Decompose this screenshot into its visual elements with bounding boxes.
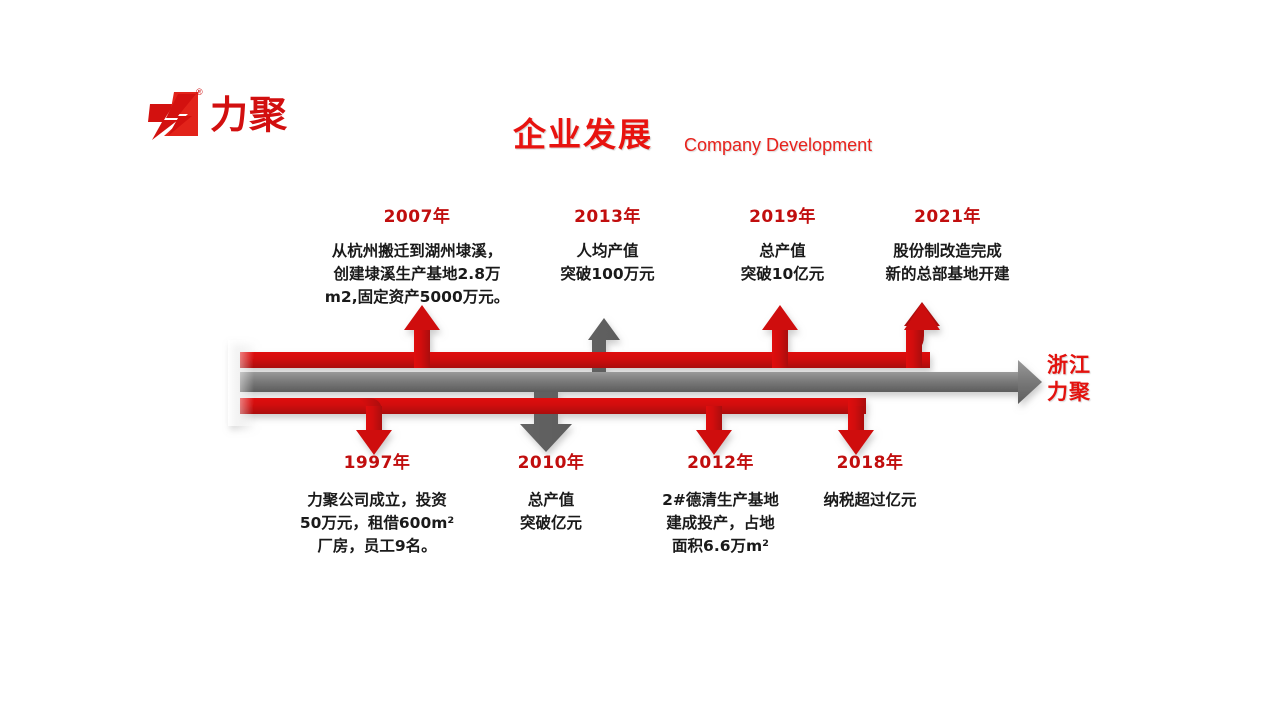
timeline-event-2021: 2021年 股份制改造完成 新的总部基地开建 <box>855 206 1040 286</box>
page-title-en: Company Development <box>684 133 872 157</box>
connector-down-2012 <box>696 406 732 455</box>
event-year: 2010年 <box>470 452 632 474</box>
event-description: 总产值 突破亿元 <box>470 489 632 535</box>
event-description: 人均产值 突破100万元 <box>525 240 690 286</box>
event-description: 从杭州搬迁到湖州埭溪， 创建埭溪生产基地2.8万 m2,固定资产5000万元。 <box>292 240 542 309</box>
event-year: 2018年 <box>780 452 960 474</box>
event-description: 总产值 突破10亿元 <box>700 240 865 286</box>
connector-up-2019 <box>762 305 798 368</box>
timeline-event-2019: 2019年 总产值 突破10亿元 <box>700 206 865 286</box>
timeline-event-2012: 2012年 2#德清生产基地 建成投产，占地 面积6.6万m² <box>638 452 803 558</box>
liju-lightning-logo-icon <box>148 90 204 142</box>
red-lower-band <box>240 398 874 455</box>
timeline-event-1997: 1997年 力聚公司成立，投资 50万元，租借600m² 厂房，员工9名。 <box>268 452 486 558</box>
event-year: 2012年 <box>638 452 803 474</box>
timeline-event-2010: 2010年 总产值 突破亿元 <box>470 452 632 535</box>
connector-down-2018 <box>838 398 874 455</box>
event-year: 1997年 <box>268 452 486 474</box>
page-title-cn: 企业发展 <box>513 115 653 155</box>
connector-up-2007 <box>404 305 440 368</box>
event-year: 2007年 <box>292 206 542 228</box>
timeline-bands <box>228 302 1042 455</box>
gray-trunk <box>240 318 1042 452</box>
event-description: 2#德清生产基地 建成投产，占地 面积6.6万m² <box>638 489 803 558</box>
event-year: 2019年 <box>700 206 865 228</box>
red-upper-band <box>240 302 940 368</box>
event-year: 2021年 <box>855 206 1040 228</box>
event-description: 纳税超过亿元 <box>780 489 960 512</box>
event-description: 股份制改造完成 新的总部基地开建 <box>855 240 1040 286</box>
timeline-end-label: 浙江 力聚 <box>1047 352 1117 406</box>
registered-mark: ® <box>196 88 203 97</box>
timeline-event-2018: 2018年 纳税超过亿元 <box>780 452 960 512</box>
event-year: 2013年 <box>525 206 690 228</box>
slide-canvas: ® 力聚 企业发展 Company Development <box>0 0 1280 720</box>
logo-wordmark: 力聚 <box>210 92 288 138</box>
timeline-event-2013: 2013年 人均产值 突破100万元 <box>525 206 690 286</box>
event-description: 力聚公司成立，投资 50万元，租借600m² 厂房，员工9名。 <box>268 489 486 558</box>
timeline-event-2007: 2007年 从杭州搬迁到湖州埭溪， 创建埭溪生产基地2.8万 m2,固定资产50… <box>292 206 542 309</box>
company-logo: ® 力聚 <box>148 88 378 146</box>
